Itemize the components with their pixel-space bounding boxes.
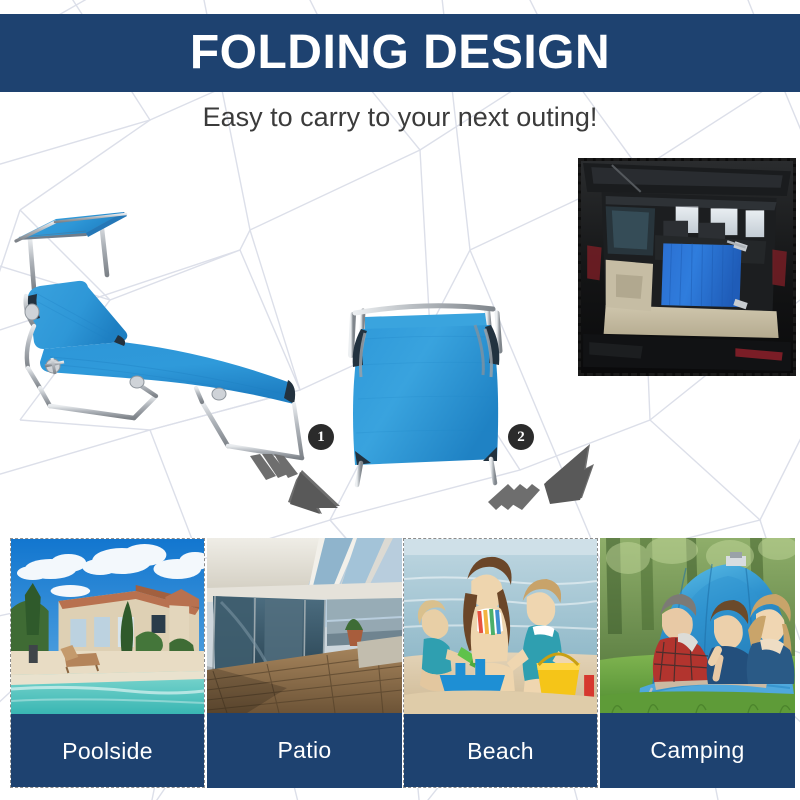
page-subtitle: Easy to carry to your next outing! <box>0 96 800 138</box>
header-banner: FOLDING DESIGN <box>0 14 800 92</box>
card-label-patio: Patio <box>207 713 402 788</box>
photo-mother-and-children-playing-on-beach <box>404 539 597 714</box>
page-title: FOLDING DESIGN <box>190 29 610 77</box>
product-lounger-unfolded <box>6 192 306 462</box>
use-case-card-row: Poolside <box>0 530 800 795</box>
card-label-beach: Beach <box>404 714 597 788</box>
photo-folded-lounger-in-suv-trunk <box>581 161 793 373</box>
photo-family-in-blue-camping-tent <box>600 538 795 713</box>
use-case-card-camping[interactable]: Camping <box>600 538 795 788</box>
step-badge-1: 1 <box>308 424 334 450</box>
use-case-card-beach[interactable]: Beach <box>403 538 598 788</box>
arrow-up-right-icon <box>486 440 596 510</box>
photo-modern-covered-patio-deck <box>207 538 402 713</box>
arrow-down-right-icon <box>244 454 344 514</box>
use-case-card-patio[interactable]: Patio <box>207 538 402 788</box>
use-case-card-poolside[interactable]: Poolside <box>10 538 205 788</box>
product-infographic: FOLDING DESIGN Easy to carry to your nex… <box>0 0 800 800</box>
trunk-photo-frame <box>578 158 796 376</box>
card-label-camping: Camping <box>600 713 795 788</box>
card-label-poolside: Poolside <box>11 714 204 788</box>
photo-villa-with-swimming-pool <box>11 539 204 714</box>
